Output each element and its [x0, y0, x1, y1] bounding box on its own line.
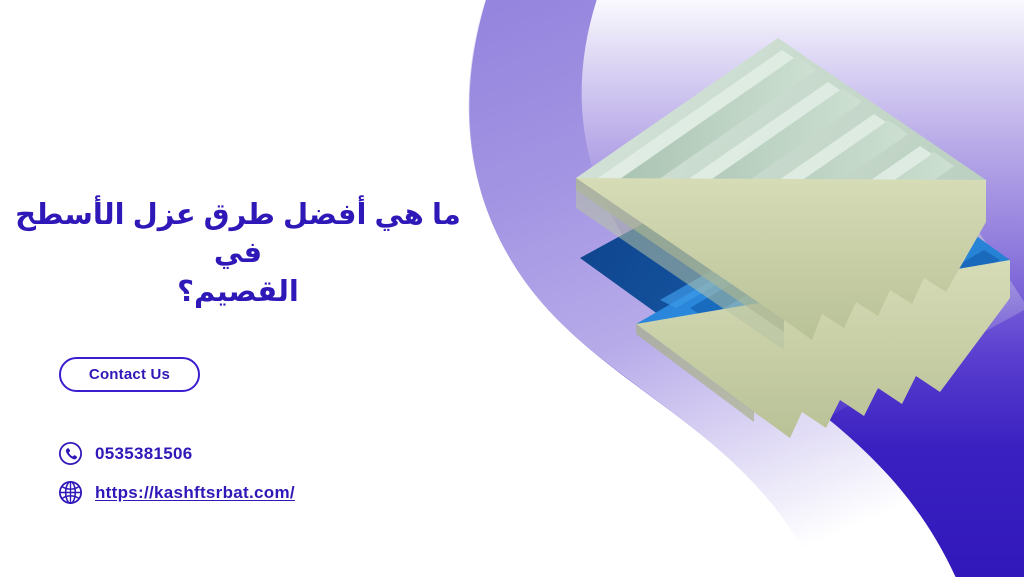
phone-circle-icon — [58, 441, 83, 466]
headline-line-1: ما هي أفضل طرق عزل الأسطح في — [15, 199, 461, 269]
insulated-sandwich-panels-image — [540, 8, 1024, 468]
content-column: ما هي أفضل طرق عزل الأسطح في القصيم؟ Con… — [0, 0, 470, 577]
contact-row-phone[interactable]: 0535381506 — [58, 441, 193, 466]
contact-row-website[interactable]: https://kashftsrbat.com/ — [58, 480, 295, 505]
headline-line-2: القصيم؟ — [177, 276, 299, 308]
contact-us-button[interactable]: Contact Us — [59, 357, 200, 392]
globe-icon — [58, 480, 83, 505]
phone-number: 0535381506 — [95, 444, 193, 464]
page-title: ما هي أفضل طرق عزل الأسطح في القصيم؟ — [14, 196, 462, 311]
banner-root: ما هي أفضل طرق عزل الأسطح في القصيم؟ Con… — [0, 0, 1024, 577]
website-url[interactable]: https://kashftsrbat.com/ — [95, 483, 295, 503]
